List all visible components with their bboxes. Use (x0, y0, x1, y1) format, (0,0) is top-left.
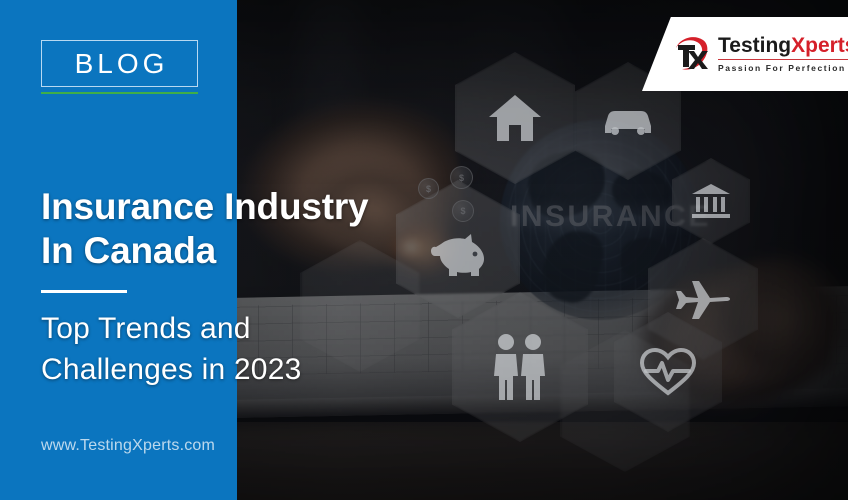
tx-monogram-icon (668, 32, 712, 76)
brand-tagline: Passion For Perfection (718, 63, 848, 73)
subtitle-line-2: Challenges in 2023 (41, 353, 301, 386)
bank-icon (691, 182, 731, 220)
brand-divider (718, 59, 848, 60)
site-url[interactable]: www.TestingXperts.com (41, 437, 215, 455)
airplane-icon (674, 274, 732, 324)
page-title: Insurance Industry In Canada (41, 185, 511, 272)
page-subtitle: Top Trends and Challenges in 2023 (41, 309, 511, 390)
title-divider-rule (41, 290, 127, 293)
brand-name-part1: Testing (718, 34, 791, 57)
subtitle-line-1: Top Trends and (41, 312, 251, 345)
brand-name-part2: Xperts (791, 34, 848, 57)
blog-banner: INSURANCE (0, 0, 848, 500)
title-line-1: Insurance Industry (41, 186, 368, 227)
title-block: Insurance Industry In Canada Top Trends … (41, 185, 511, 390)
blog-badge-label: BLOG (71, 50, 169, 78)
brand-logo-panel[interactable]: TestingXperts Passion For Perfection (642, 17, 848, 91)
heartbeat-icon (639, 346, 697, 398)
house-icon (487, 92, 543, 144)
car-icon (601, 104, 655, 138)
title-line-2: In Canada (41, 230, 216, 271)
brand-name: TestingXperts (718, 35, 848, 56)
blog-badge: BLOG (41, 40, 198, 87)
brand-logo-text: TestingXperts Passion For Perfection (718, 35, 848, 73)
blog-badge-accent-rule (41, 92, 198, 94)
